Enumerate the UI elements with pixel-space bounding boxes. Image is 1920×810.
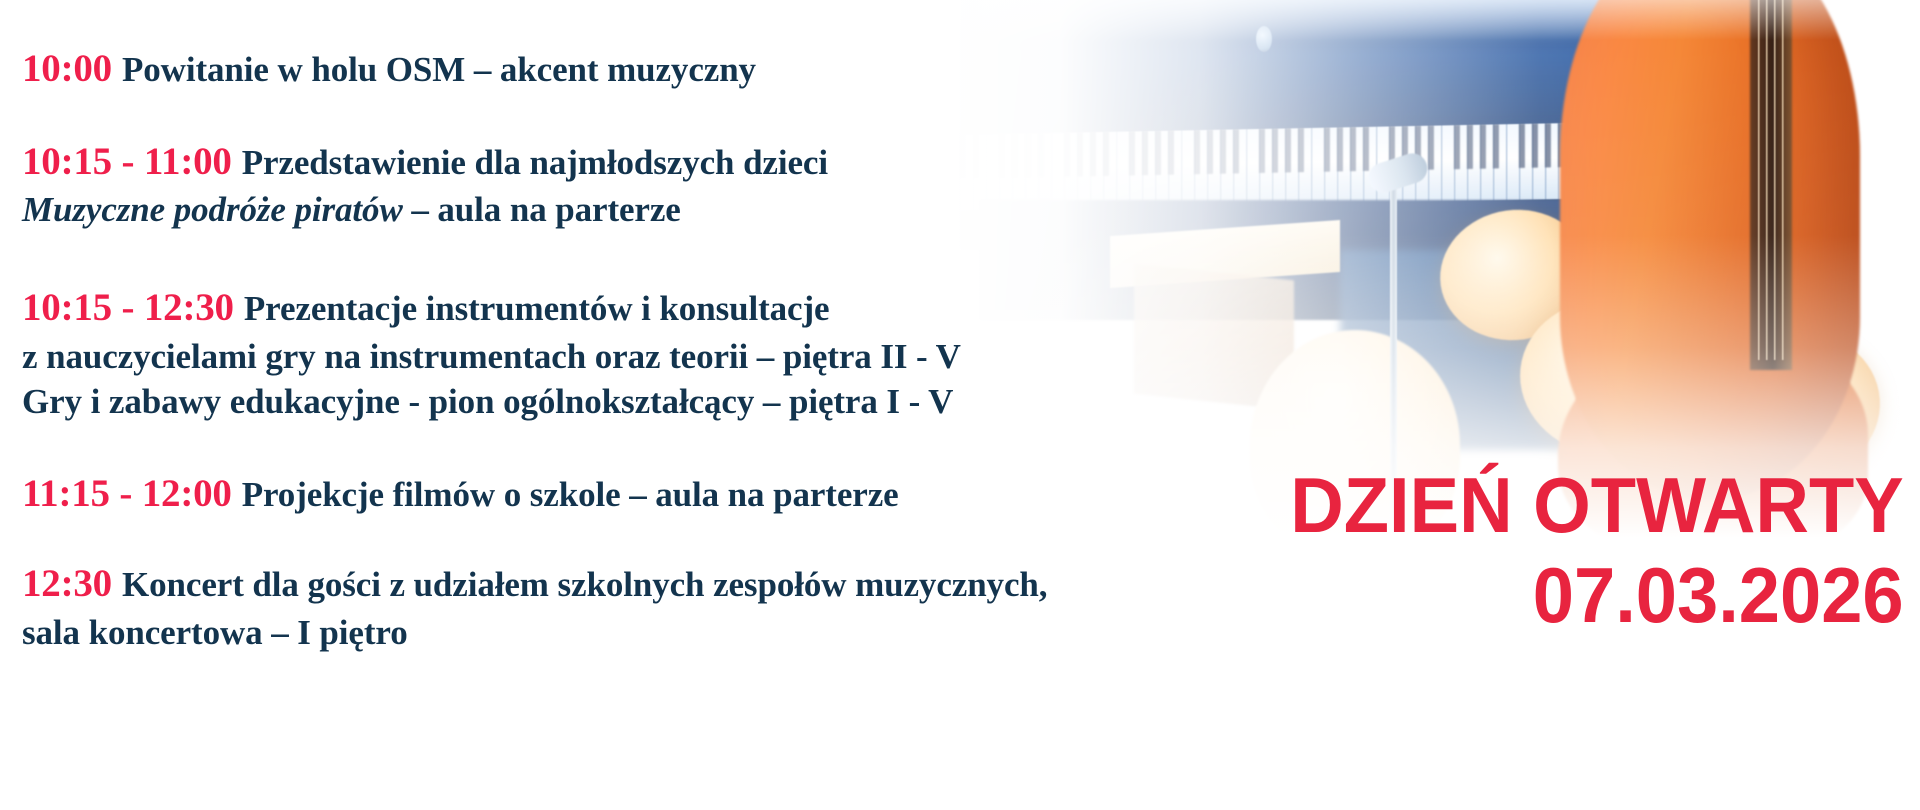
piano-highlight-shape bbox=[980, 0, 1670, 42]
schedule-line: 10:15 - 11:00Przedstawienie dla najmłods… bbox=[22, 137, 1212, 188]
schedule-entry: 10:15 - 12:30Prezentacje instrumentów i … bbox=[22, 283, 1212, 425]
schedule-line: 10:00Powitanie w holu OSM – akcent muzyc… bbox=[22, 44, 1212, 95]
entry-text: Projekcje filmów o szkole – aula na part… bbox=[242, 475, 899, 514]
cymbal-shape-2 bbox=[1512, 291, 1702, 463]
cymbal-shape-1 bbox=[1432, 200, 1599, 350]
headline-date: 07.03.2026 bbox=[1291, 556, 1904, 636]
schedule-line: 10:15 - 12:30Prezentacje instrumentów i … bbox=[22, 283, 1212, 334]
entry-time: 11:15 - 12:00 bbox=[22, 472, 232, 515]
schedule-entry: 11:15 - 12:00Projekcje filmów o szkole –… bbox=[22, 469, 1212, 520]
microphone-shape bbox=[1365, 149, 1431, 196]
schedule-line: Gry i zabawy edukacyjne - pion ogólnoksz… bbox=[22, 379, 1212, 425]
schedule-list: 10:00Powitanie w holu OSM – akcent muzyc… bbox=[22, 44, 1212, 655]
entry-text: Koncert dla gości z udziałem szkolnych z… bbox=[122, 565, 1047, 604]
cello-neck-shape bbox=[1750, 0, 1792, 370]
headline-block: DZIEŃ OTWARTY 07.03.2026 bbox=[1258, 466, 1904, 635]
entry-text: Przedstawienie dla najmłodszych dzieci bbox=[242, 143, 828, 182]
schedule-line: z nauczycielami gry na instrumentach ora… bbox=[22, 334, 1212, 380]
entry-time: 10:15 - 12:30 bbox=[22, 286, 234, 329]
entry-text-tail: – aula na parterze bbox=[403, 190, 681, 229]
schedule-line: 11:15 - 12:00Projekcje filmów o szkole –… bbox=[22, 469, 1212, 520]
headline-title: DZIEŃ OTWARTY bbox=[1291, 466, 1904, 546]
background-panel-shape bbox=[1340, 250, 1640, 450]
schedule-entry: 12:30Koncert dla gości z udziałem szkoln… bbox=[22, 559, 1212, 655]
cello-strings-shape bbox=[1758, 0, 1784, 360]
artwork-top-fade bbox=[920, 0, 1920, 40]
entry-time: 12:30 bbox=[22, 562, 112, 605]
schedule-entry: 10:00Powitanie w holu OSM – akcent muzyc… bbox=[22, 44, 1212, 95]
cello-shape bbox=[1560, 0, 1860, 500]
schedule-line: Muzyczne podróże piratów – aula na parte… bbox=[22, 187, 1212, 233]
entry-time: 10:00 bbox=[22, 47, 112, 90]
schedule-line: 12:30Koncert dla gości z udziałem szkoln… bbox=[22, 559, 1212, 610]
open-day-poster: 10:00Powitanie w holu OSM – akcent muzyc… bbox=[0, 0, 1920, 810]
entry-text: Powitanie w holu OSM – akcent muzyczny bbox=[122, 50, 756, 89]
entry-text: Prezentacje instrumentów i konsultacje bbox=[244, 289, 830, 328]
entry-time: 10:15 - 11:00 bbox=[22, 140, 232, 183]
piano-knob-shape bbox=[1256, 26, 1272, 52]
schedule-line: sala koncertowa – I piętro bbox=[22, 610, 1212, 656]
schedule-entry: 10:15 - 11:00Przedstawienie dla najmłods… bbox=[22, 137, 1212, 233]
event-title-italic: Muzyczne podróże piratów bbox=[22, 190, 403, 229]
